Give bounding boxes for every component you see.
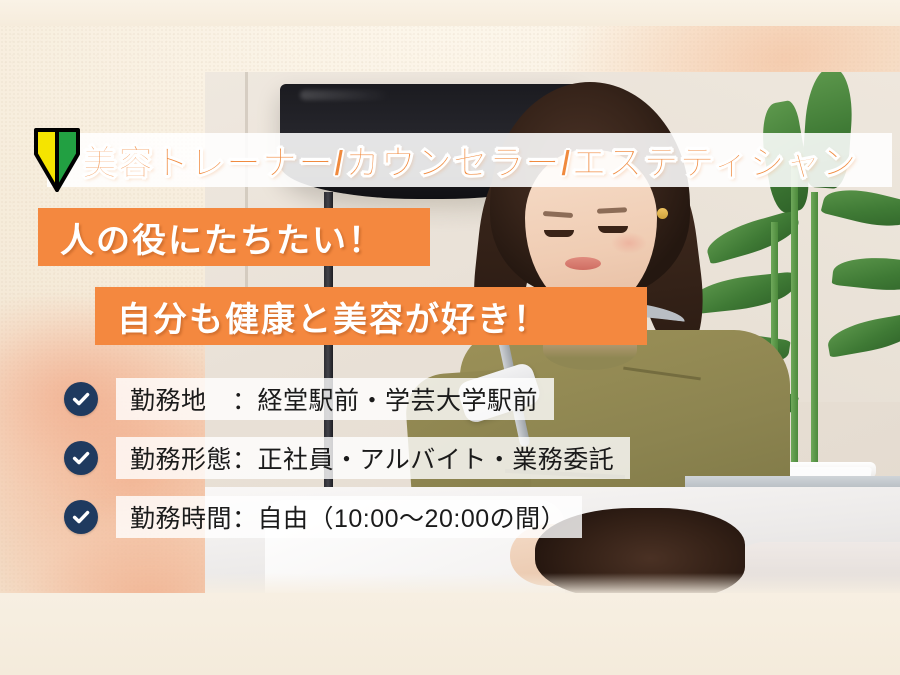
check-circle-icon: [64, 382, 98, 416]
page-title: 美容トレーナー/カウンセラー/エステティシャン: [82, 133, 900, 187]
plant-stalk: [811, 192, 818, 467]
therapist-cheek-blush: [611, 232, 647, 254]
detail-row-employment-type-box: 勤務形態：正社員・アルバイト・業務委託: [116, 437, 630, 479]
detail-row-employment-type-text: 勤務形態：正社員・アルバイト・業務委託: [130, 440, 614, 476]
detail-row-working-hours-box: 勤務時間：自由（10:00〜20:00の間）: [116, 496, 582, 538]
tagline-banner-1: 人の役にたちたい！: [38, 208, 430, 266]
bottom-paper-band: [0, 593, 900, 675]
lamp-shade-highlight: [300, 90, 390, 100]
detail-row-location-text: 勤務地 ：経堂駅前・学芸大学駅前: [130, 381, 538, 417]
photo-wall-corner: [245, 72, 248, 322]
photo-bottom-fade: [205, 573, 900, 595]
shoshinsha-mark-icon: [33, 128, 81, 192]
poster-canvas: 美容トレーナー/カウンセラー/エステティシャン 人の役にたちたい！ 自分も健康と…: [0, 0, 900, 675]
detail-row-working-hours: 勤務時間：自由（10:00〜20:00の間）: [64, 496, 582, 538]
plant-stalk: [791, 162, 798, 467]
check-circle-icon: [64, 441, 98, 475]
detail-row-location: 勤務地 ：経堂駅前・学芸大学駅前: [64, 378, 554, 420]
tagline-banner-2: 自分も健康と美容が好き！: [95, 287, 647, 345]
detail-row-location-box: 勤務地 ：経堂駅前・学芸大学駅前: [116, 378, 554, 420]
therapist-eye: [544, 230, 574, 237]
top-edge-band: [0, 0, 900, 26]
detail-row-employment-type: 勤務形態：正社員・アルバイト・業務委託: [64, 437, 630, 479]
check-circle-icon: [64, 500, 98, 534]
therapist-earring: [657, 208, 668, 219]
therapist-lips: [565, 257, 601, 270]
detail-row-working-hours-text: 勤務時間：自由（10:00〜20:00の間）: [130, 499, 566, 535]
